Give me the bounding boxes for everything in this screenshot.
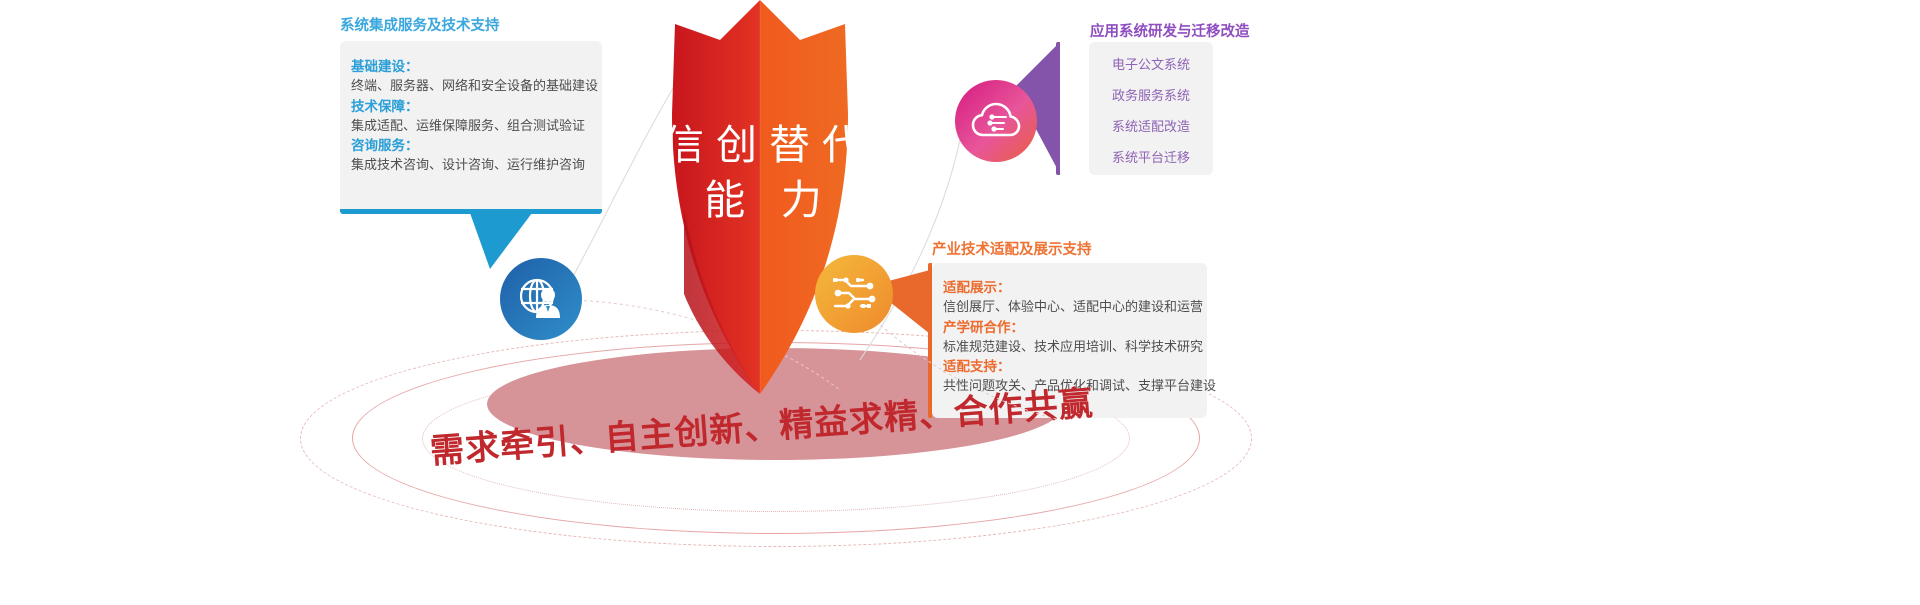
panel-title-system-integration: 系统集成服务及技术支持 <box>340 14 500 35</box>
globe-user-icon[interactable] <box>500 258 582 340</box>
circuit-board-glyph <box>829 269 879 319</box>
panel-section: 适配展示： 信创展厅、体验中心、适配中心的建设和运营 <box>943 276 1207 316</box>
section-body: 终端、服务器、网络和安全设备的基础建设 <box>351 77 602 95</box>
panel-title-app-dev-migration: 应用系统研发与迁移改造 <box>1090 20 1250 41</box>
section-heading: 咨询服务： <box>351 134 602 154</box>
central-shield <box>600 0 920 404</box>
circuit-board-icon[interactable] <box>815 255 893 333</box>
section-heading: 产学研合作： <box>943 316 1207 336</box>
panel-section: 基础建设： 终端、服务器、网络和安全设备的基础建设 <box>351 55 602 95</box>
list-item[interactable]: 电子公文系统 <box>1089 54 1213 73</box>
panel-app-dev-migration[interactable]: 电子公文系统 政务服务系统 系统适配改造 系统平台迁移 <box>1089 42 1213 175</box>
cloud-network-icon[interactable] <box>955 80 1037 162</box>
section-body: 集成技术咨询、设计咨询、运行维护咨询 <box>351 156 602 174</box>
list-item[interactable]: 系统适配改造 <box>1089 116 1213 135</box>
list-item[interactable]: 政务服务系统 <box>1089 85 1213 104</box>
section-heading: 技术保障： <box>351 95 602 115</box>
infographic-canvas: 信创替代 能 力 系统集成服务及技术支持 基础建设： 终端、服务器、网络和安全设… <box>0 0 1920 605</box>
section-heading: 适配支持： <box>943 355 1207 375</box>
section-body: 集成适配、运维保障服务、组合测试验证 <box>351 117 602 135</box>
panel-section: 咨询服务： 集成技术咨询、设计咨询、运行维护咨询 <box>351 134 602 174</box>
panel-section: 产学研合作： 标准规范建设、技术应用培训、科学技术研究 <box>943 316 1207 356</box>
section-body: 信创展厅、体验中心、适配中心的建设和运营 <box>943 298 1207 316</box>
panel-section: 技术保障： 集成适配、运维保障服务、组合测试验证 <box>351 95 602 135</box>
cloud-network-glyph <box>970 95 1022 147</box>
list-item[interactable]: 系统平台迁移 <box>1089 147 1213 166</box>
globe-user-glyph <box>516 274 566 324</box>
section-heading: 基础建设： <box>351 55 602 75</box>
panel-title-industry-adaptation: 产业技术适配及展示支持 <box>932 238 1092 259</box>
panel-system-integration[interactable]: 基础建设： 终端、服务器、网络和安全设备的基础建设 技术保障： 集成适配、运维保… <box>340 41 602 213</box>
section-body: 标准规范建设、技术应用培训、科学技术研究 <box>943 338 1207 356</box>
section-heading: 适配展示： <box>943 276 1207 296</box>
